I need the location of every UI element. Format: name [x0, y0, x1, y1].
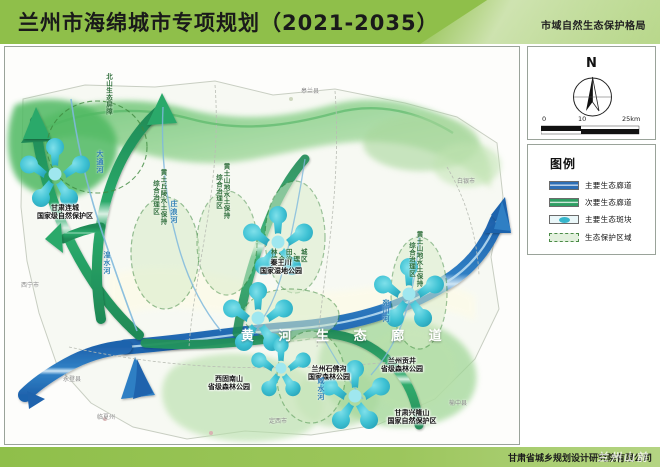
scale-bar: [541, 125, 651, 137]
protection-area-swatch-icon: [549, 233, 579, 242]
scale-tick-0: 0: [542, 115, 546, 123]
page-header: 兰州市海绵城市专项规划（2021-2035） 市域自然生态保护格局: [0, 0, 660, 44]
legend-title: 图例: [550, 155, 576, 172]
page-title: 兰州市海绵城市专项规划（2021-2035）: [18, 7, 439, 37]
north-label: N: [528, 56, 655, 71]
footer-watermark: 兰州山前: [597, 449, 651, 465]
page-subtitle: 市域自然生态保护格局: [541, 17, 646, 32]
legend-item-protection-area[interactable]: 生态保护区域: [549, 232, 632, 243]
legend-label-protection-area: 生态保护区域: [585, 232, 632, 243]
scale-tick-labels: 0 10 25km: [542, 115, 642, 125]
scale-tick-1: 10: [578, 115, 586, 123]
legend-item-secondary-corridor[interactable]: 次要生态廊道: [549, 197, 632, 208]
compass-scale-panel: N 0 10 25km: [527, 46, 656, 140]
legend-label-main-corridor: 主要生态廊道: [585, 180, 632, 191]
legend-label-secondary-corridor: 次要生态廊道: [585, 197, 632, 208]
map-canvas[interactable]: 北山生态屏障 黄土丘陵水土保持 综合治理区 黄土山地水土保持 综合治理区 林、田…: [4, 46, 520, 445]
scale-tick-2: 25km: [622, 115, 640, 123]
map-graphics: [5, 47, 519, 444]
map-page: 兰州市海绵城市专项规划（2021-2035） 市域自然生态保护格局: [0, 0, 660, 467]
legend-item-main-corridor[interactable]: 主要生态廊道: [549, 180, 632, 191]
ecological-patch-swatch-icon: [549, 215, 579, 224]
legend-item-ecological-patch[interactable]: 主要生态斑块: [549, 214, 632, 225]
legend-label-ecological-patch: 主要生态斑块: [585, 214, 632, 225]
page-footer: 甘肃省城乡规划设计研究院有限公司 兰州山前: [0, 447, 660, 467]
main-corridor-swatch-icon: [549, 181, 579, 190]
legend-panel: 图例 主要生态廊道 次要生态廊道 主要生态斑块 生态保护区域: [527, 144, 656, 255]
secondary-corridor-swatch-icon: [549, 198, 579, 207]
